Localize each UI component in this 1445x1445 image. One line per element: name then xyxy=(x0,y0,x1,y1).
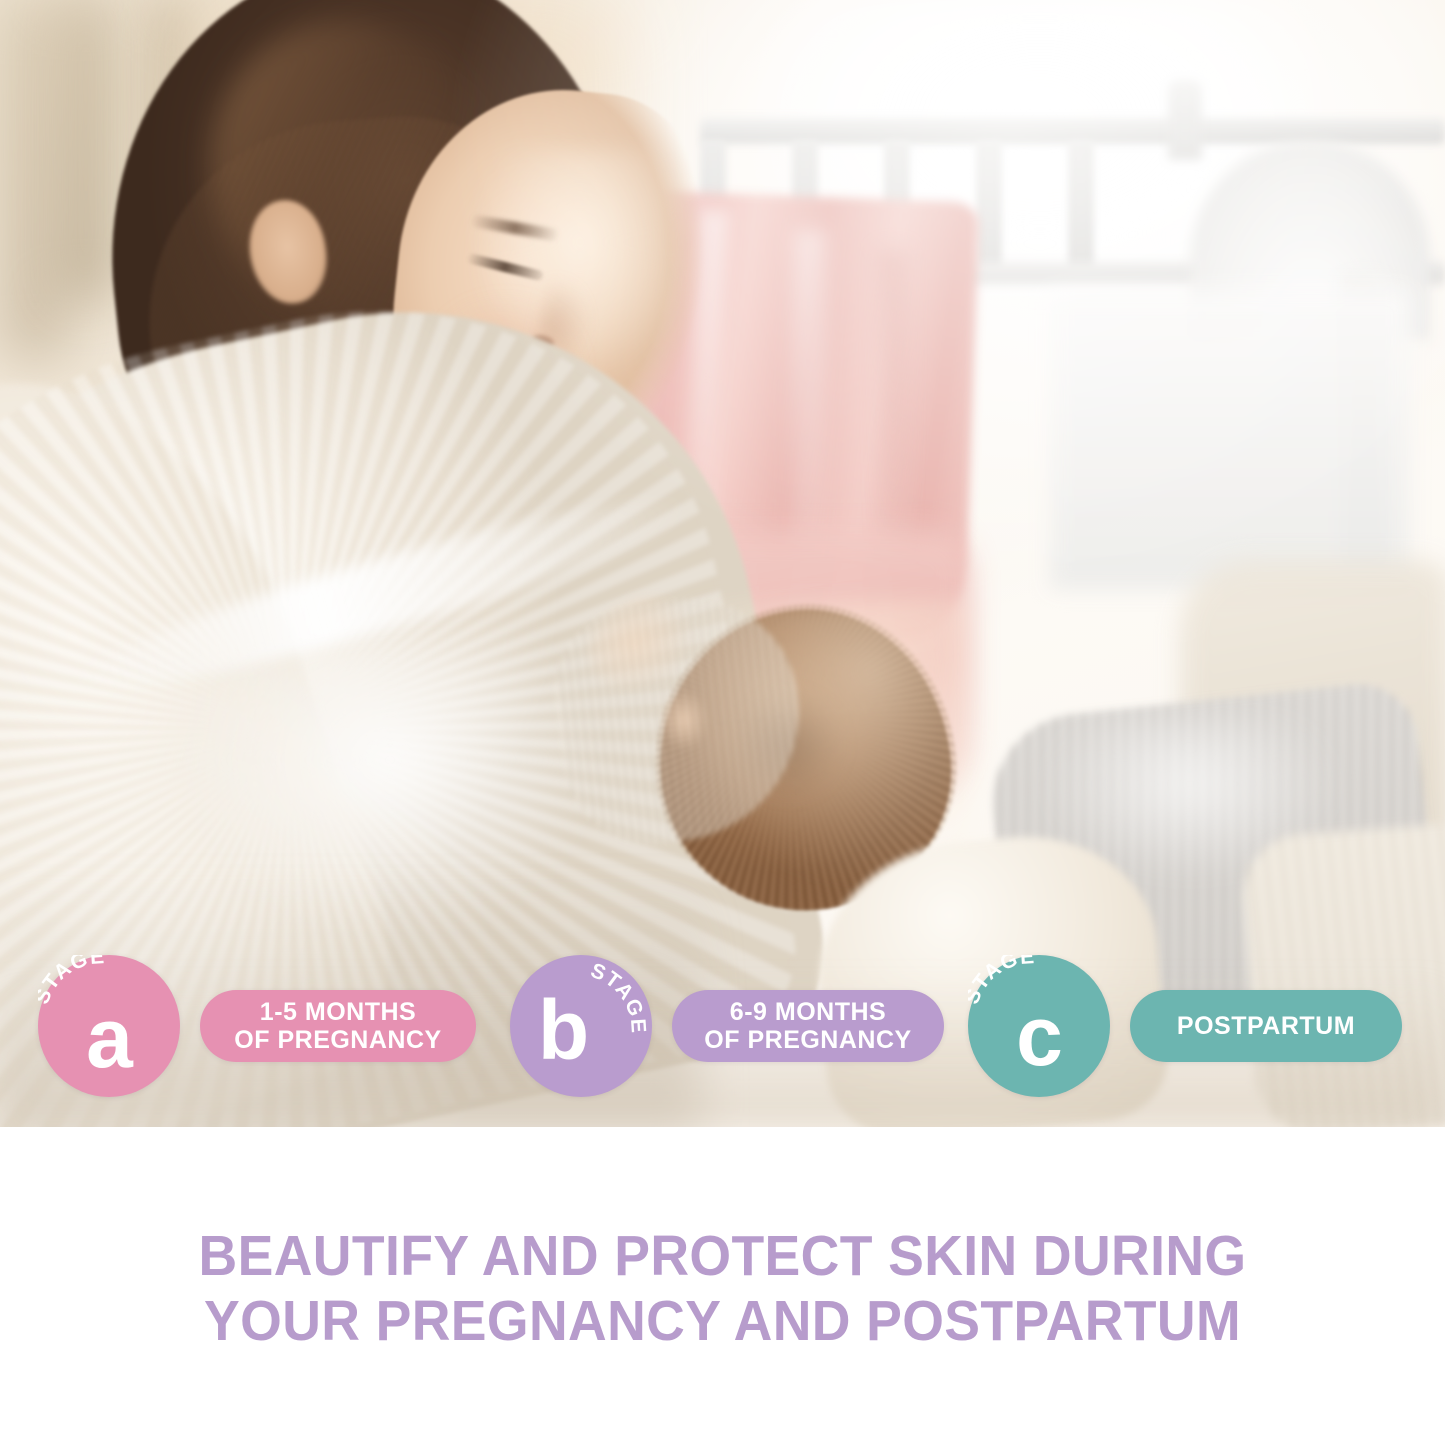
stage-circle-b[interactable]: STAGE b xyxy=(510,955,652,1097)
stage-badge-row: STAGE a 1-5 MONTHS OF PREGNANCY xyxy=(0,955,1445,1097)
stage-group-a[interactable]: STAGE a 1-5 MONTHS OF PREGNANCY xyxy=(38,955,476,1097)
stage-pill-line2-a: OF PREGNANCY xyxy=(234,1026,441,1054)
stage-circle-a[interactable]: STAGE a xyxy=(38,955,180,1097)
stage-pill-c[interactable]: POSTPARTUM xyxy=(1130,990,1402,1062)
promo-banner: STAGE a 1-5 MONTHS OF PREGNANCY xyxy=(0,0,1445,1445)
headline-line-1: BEAUTIFY AND PROTECT SKIN DURING xyxy=(43,1224,1401,1289)
stage-pill-text-b: 6-9 MONTHS OF PREGNANCY xyxy=(704,998,911,1055)
stage-word-b: STAGE xyxy=(587,959,650,1035)
stage-pill-text-a: 1-5 MONTHS OF PREGNANCY xyxy=(234,998,441,1055)
stage-group-c[interactable]: STAGE c POSTPARTUM xyxy=(968,955,1402,1097)
stage-letter-a: a xyxy=(86,996,132,1080)
stage-circle-c[interactable]: STAGE c xyxy=(968,955,1110,1097)
stage-pill-a[interactable]: 1-5 MONTHS OF PREGNANCY xyxy=(200,990,476,1062)
headline-line-2: YOUR PREGNANCY AND POSTPARTUM xyxy=(43,1289,1401,1354)
stage-group-b[interactable]: STAGE b 6-9 MONTHS OF PREGNANCY xyxy=(510,955,944,1097)
headline: BEAUTIFY AND PROTECT SKIN DURING YOUR PR… xyxy=(0,1224,1445,1354)
stage-pill-b[interactable]: 6-9 MONTHS OF PREGNANCY xyxy=(672,990,944,1062)
stage-pill-line2-b: OF PREGNANCY xyxy=(704,1026,911,1054)
stage-pill-line1-c: POSTPARTUM xyxy=(1177,1012,1355,1040)
stage-pill-line1-b: 6-9 MONTHS xyxy=(730,998,886,1026)
svg-text:STAGE: STAGE xyxy=(587,959,650,1035)
stage-pill-text-c: POSTPARTUM xyxy=(1177,1012,1355,1041)
stage-letter-c: c xyxy=(1016,994,1062,1078)
stage-letter-b: b xyxy=(538,988,588,1072)
stage-pill-line1-a: 1-5 MONTHS xyxy=(260,998,416,1026)
